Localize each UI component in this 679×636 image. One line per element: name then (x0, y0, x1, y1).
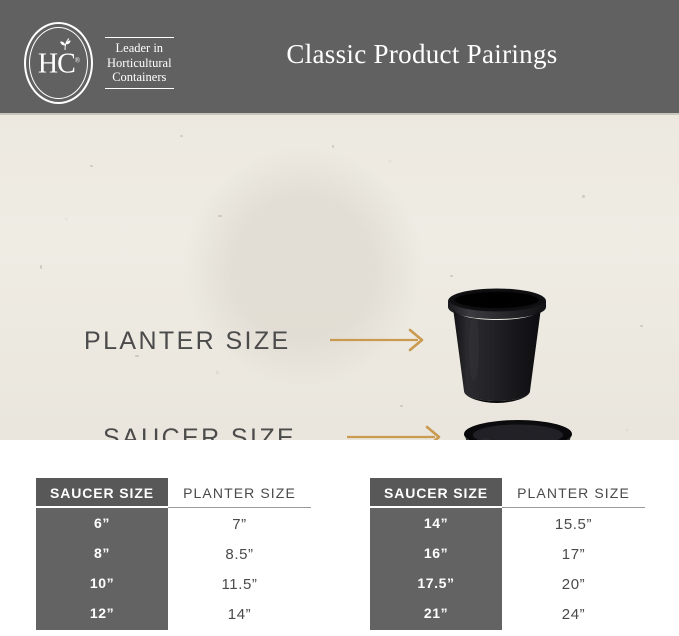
table-cell-saucer: 21” (370, 598, 502, 628)
black-saucer-dish (462, 418, 574, 440)
saucer-size-column: SAUCER SIZE 14” 16” 17.5” 21” (370, 478, 502, 630)
column-header-planter-size: PLANTER SIZE (502, 478, 645, 508)
arrow-right-icon (330, 327, 430, 353)
planter-size-label: PLANTER SIZE (84, 327, 291, 356)
size-table-small: SAUCER SIZE 6” 8” 10” 12” PLANTER SIZE 7… (36, 478, 311, 630)
table-cell-planter: 8.5” (168, 540, 311, 570)
table-cell-saucer: 8” (36, 538, 168, 568)
table-cell-saucer: 10” (36, 568, 168, 598)
table-cell-planter: 15.5” (502, 510, 645, 540)
header-bar: HC® Leader in Horticultural Containers C… (0, 0, 679, 113)
stage-texture-background (0, 115, 679, 440)
table-cell-saucer: 14” (370, 508, 502, 538)
column-header-planter-size: PLANTER SIZE (168, 478, 311, 508)
infographic-page: HC® Leader in Horticultural Containers C… (0, 0, 679, 636)
black-planter-pot (444, 287, 550, 405)
column-header-saucer-size: SAUCER SIZE (36, 478, 168, 508)
table-cell-saucer: 16” (370, 538, 502, 568)
table-cell-planter: 24” (502, 600, 645, 630)
logo-tagline-line-3: Containers (107, 70, 172, 85)
saucer-size-column: SAUCER SIZE 6” 8” 10” 12” (36, 478, 168, 630)
column-header-saucer-size: SAUCER SIZE (370, 478, 502, 508)
table-cell-planter: 7” (168, 510, 311, 540)
page-title: Classic Product Pairings (0, 39, 679, 70)
table-cell-saucer: 17.5” (370, 568, 502, 598)
table-cell-planter: 20” (502, 570, 645, 600)
planter-size-column: PLANTER SIZE 7” 8.5” 11.5” 14” (168, 478, 311, 630)
size-tables: SAUCER SIZE 6” 8” 10” 12” PLANTER SIZE 7… (0, 478, 679, 636)
saucer-size-label: SAUCER SIZE (103, 424, 296, 440)
table-cell-saucer: 6” (36, 508, 168, 538)
table-cell-saucer: 12” (36, 598, 168, 628)
table-cell-planter: 17” (502, 540, 645, 570)
arrow-right-icon (347, 424, 447, 440)
product-stage: PLANTER SIZE (0, 115, 679, 440)
table-cell-planter: 11.5” (168, 570, 311, 600)
size-table-large: SAUCER SIZE 14” 16” 17.5” 21” PLANTER SI… (370, 478, 645, 630)
table-cell-planter: 14” (168, 600, 311, 630)
planter-size-column: PLANTER SIZE 15.5” 17” 20” 24” (502, 478, 645, 630)
